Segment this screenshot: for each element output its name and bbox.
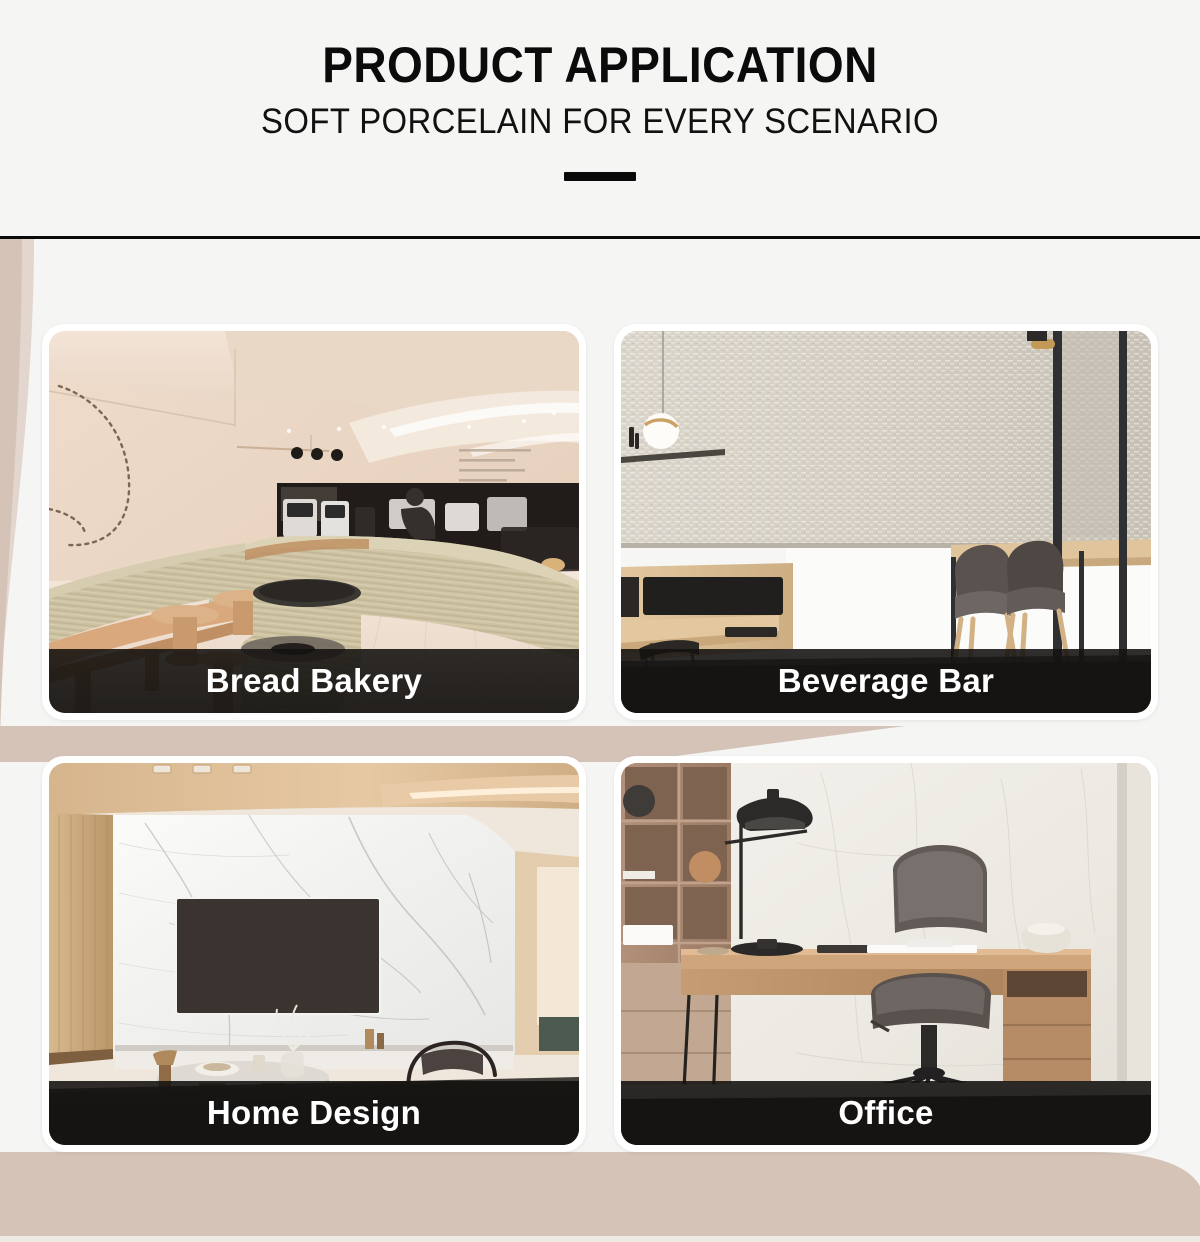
- page-subtitle: SOFT PORCELAIN FOR EVERY SCENARIO: [36, 94, 1164, 144]
- page-header: PRODUCT APPLICATION SOFT PORCELAIN FOR E…: [0, 0, 1200, 238]
- application-card-beverage-bar[interactable]: Beverage Bar: [614, 324, 1158, 720]
- left-curve-shape: [0, 236, 34, 700]
- header-accent-bar: [564, 172, 636, 181]
- card-image-beverage-bar: Beverage Bar: [621, 331, 1151, 713]
- product-application-page: PRODUCT APPLICATION SOFT PORCELAIN FOR E…: [0, 0, 1200, 1242]
- header-divider-rule: [0, 236, 1200, 239]
- bottom-shape: [0, 1152, 1200, 1242]
- application-card-grid: Bread Bakery: [42, 324, 1158, 1152]
- card-label: Bread Bakery: [206, 663, 422, 699]
- card-caption-beverage-bar: Beverage Bar: [621, 649, 1151, 713]
- card-caption-office: Office: [621, 1081, 1151, 1145]
- card-image-bread-bakery: Bread Bakery: [49, 331, 579, 713]
- card-label: Home Design: [207, 1095, 421, 1131]
- card-label: Beverage Bar: [778, 663, 994, 699]
- card-image-office: Office: [621, 763, 1151, 1145]
- page-title: PRODUCT APPLICATION: [48, 0, 1152, 94]
- application-card-home-design[interactable]: Home Design: [42, 756, 586, 1152]
- application-card-bread-bakery[interactable]: Bread Bakery: [42, 324, 586, 720]
- bottom-edge-strip: [0, 1236, 1200, 1242]
- application-card-office[interactable]: Office: [614, 756, 1158, 1152]
- card-label: Office: [838, 1095, 933, 1131]
- card-caption-bread-bakery: Bread Bakery: [49, 649, 579, 713]
- bottom-right-notch: [1090, 1152, 1200, 1186]
- card-caption-home-design: Home Design: [49, 1081, 579, 1145]
- card-image-home-design: Home Design: [49, 763, 579, 1145]
- left-curve-shape-inner: [0, 236, 22, 740]
